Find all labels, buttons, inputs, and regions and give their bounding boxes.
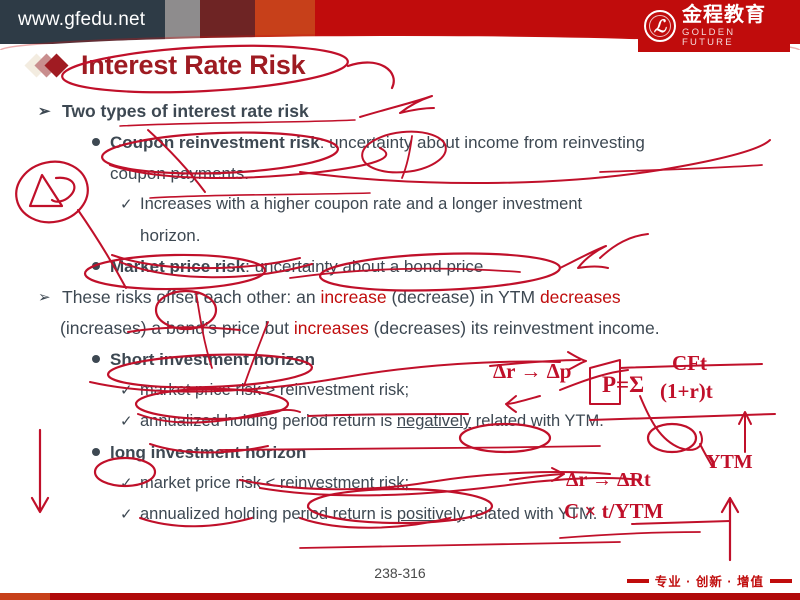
coupon-reinvestment-risk-definition: : uncertainty about income from reinvest…	[320, 133, 645, 152]
slide-canvas: www.gfedu.net ℒ 金程教育 GOLDEN FUTURE Inter…	[0, 0, 800, 600]
bullet-two-types-label: Two types of interest rate risk	[62, 101, 309, 121]
check-short-risk-compare-label: market price risk > reinvestment risk;	[140, 381, 409, 399]
check-long-hpr-post: related with YTM.	[465, 505, 598, 523]
risks-offset-mid: (decrease) in YTM	[387, 287, 540, 307]
check-increases-label: Increases with a higher coupon rate and …	[140, 195, 582, 213]
ink-strike-ytm-long	[560, 532, 700, 538]
short-investment-horizon-label: Short investment horizon	[110, 350, 315, 369]
coupon-reinvestment-risk-continued: coupon payments.	[0, 158, 800, 189]
check-short-hpr-post: related with YTM.	[471, 412, 604, 430]
footer-bar-orange	[0, 593, 50, 600]
check-long-hpr-pre: annualized holding period return is	[140, 505, 397, 523]
risks-offset-continued: (increases) a bond's price but increases…	[0, 313, 800, 344]
market-price-risk-definition: : uncertainty about a bond price	[245, 257, 483, 276]
check-increases-continued: horizon.	[0, 220, 800, 251]
logo-english-name: GOLDEN FUTURE	[682, 28, 790, 47]
risks-offset-decreases: decreases	[540, 287, 621, 307]
dot-bullet-icon	[92, 262, 100, 270]
arrow-bullet-icon: ➢	[38, 282, 51, 313]
ink-underline-positively	[300, 542, 620, 548]
risks-offset-cont-post: (decreases) its reinvestment income.	[369, 318, 660, 338]
logo-text-group: 金程教育 GOLDEN FUTURE	[682, 5, 790, 47]
check-bullet-icon: ✓	[120, 499, 133, 530]
coupon-reinvestment-risk-term: Coupon reinvestment risk	[110, 133, 320, 152]
bullet-risks-offset: ➢ These risks offset each other: an incr…	[0, 282, 800, 313]
ink-title-tail	[348, 62, 394, 88]
risks-offset-cont-pre: (increases) a bond's price but	[60, 318, 294, 338]
check-bullet-icon: ✓	[120, 189, 133, 220]
check-short-hpr-pre: annualized holding period return is	[140, 412, 397, 430]
footer-slogan: 专业 · 创新 · 增值	[627, 571, 792, 590]
check-long-risk-compare: ✓ market price risk < reinvestment risk;	[0, 468, 800, 499]
footer-bar	[0, 593, 800, 600]
check-long-hpr: ✓ annualized holding period return is po…	[0, 499, 800, 530]
logo-chinese-name: 金程教育	[682, 5, 790, 25]
sub-long-investment-horizon: long investment horizon	[0, 437, 800, 468]
logo-seal-glyph: ℒ	[654, 18, 666, 35]
dot-bullet-icon	[92, 138, 100, 146]
footer-slogan-label: 专业 · 创新 · 增值	[655, 571, 764, 590]
logo-seal-icon: ℒ	[644, 10, 676, 42]
sub-market-price-risk: Market price risk: uncertainty about a b…	[0, 251, 800, 282]
risks-offset-increase: increase	[320, 287, 386, 307]
check-bullet-icon: ✓	[120, 468, 133, 499]
check-short-hpr-negatively: negatively	[397, 412, 471, 430]
risks-offset-pre: These risks offset each other: an	[62, 287, 320, 307]
check-long-hpr-positively: positively	[397, 505, 465, 523]
footer-bar-right-icon	[770, 579, 792, 583]
check-short-risk-compare: ✓ market price risk > reinvestment risk;	[0, 375, 800, 406]
footer-bar-red	[50, 593, 800, 600]
check-long-risk-compare-label: market price risk < reinvestment risk;	[140, 474, 409, 492]
dot-bullet-icon	[92, 448, 100, 456]
page-title: Interest Rate Risk	[81, 50, 306, 81]
check-short-hpr: ✓ annualized holding period return is ne…	[0, 406, 800, 437]
brand-logo: ℒ 金程教育 GOLDEN FUTURE	[638, 0, 790, 52]
footer-bar-left-icon	[627, 579, 649, 583]
risks-offset-increases: increases	[294, 318, 369, 338]
slide-body: ➢ Two types of interest rate risk Coupon…	[0, 96, 800, 530]
check-bullet-icon: ✓	[120, 375, 133, 406]
market-price-risk-term: Market price risk	[110, 257, 245, 276]
check-bullet-icon: ✓	[120, 406, 133, 437]
bullet-two-types: ➢ Two types of interest rate risk	[0, 96, 800, 127]
long-investment-horizon-label: long investment horizon	[110, 443, 306, 462]
dot-bullet-icon	[92, 355, 100, 363]
arrow-bullet-icon: ➢	[38, 96, 51, 127]
sub-short-investment-horizon: Short investment horizon	[0, 344, 800, 375]
title-row: Interest Rate Risk	[28, 50, 306, 81]
site-url-label: www.gfedu.net	[18, 9, 145, 31]
check-increases-with-coupon-rate: ✓ Increases with a higher coupon rate an…	[0, 189, 800, 220]
sub-coupon-reinvestment-risk: Coupon reinvestment risk: uncertainty ab…	[0, 127, 800, 158]
